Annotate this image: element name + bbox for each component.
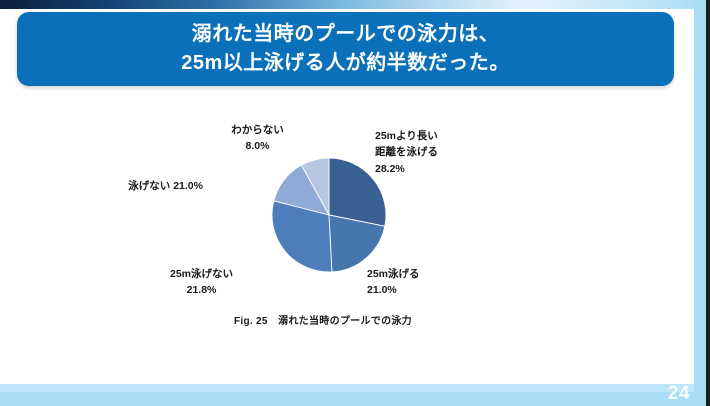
pie-label-line: 25m泳げない [139, 266, 264, 282]
pie-label-25m-can: 25m泳げる 21.0% [367, 266, 420, 299]
pie-label-line: わからない [195, 122, 320, 138]
right-accent-strip [694, 0, 706, 406]
pie-label-line: 25m泳げる [367, 266, 420, 282]
pie-label-value: 28.2% [375, 161, 438, 177]
pie-label-value: 8.0% [195, 138, 320, 154]
pie-label-line: 距離を泳げる [375, 144, 438, 160]
pie-svg [272, 158, 386, 272]
right-edge-border [706, 0, 710, 406]
pie-label-25m-longer: 25mより長い 距離を泳げる 28.2% [375, 128, 438, 177]
title-line-1: 溺れた当時のプールでの泳力は、 [192, 20, 500, 49]
pie-label-value: 21.8% [139, 282, 264, 298]
pie-label-25m-cannot: 25m泳げない 21.8% [139, 266, 264, 299]
title-line-2: 25m以上泳げる人が約半数だった。 [181, 49, 510, 78]
top-accent-strip [0, 0, 710, 9]
pie-label-line: 泳げない 21.0% [78, 178, 203, 194]
pie-graphic [272, 158, 386, 272]
pie-label-cannot-swim: 泳げない 21.0% [78, 178, 203, 194]
pie-chart: 25mより長い 距離を泳げる 28.2% 25m泳げる 21.0% 25m泳げな… [0, 96, 700, 356]
pie-label-value: 21.0% [367, 282, 420, 298]
figure-caption: Fig. 25 溺れた当時のプールでの泳力 [168, 312, 478, 327]
page-number: 24 [668, 383, 690, 405]
bottom-accent-strip-light [0, 384, 710, 392]
pie-label-unknown: わからない 8.0% [195, 122, 320, 155]
title-banner: 溺れた当時のプールでの泳力は、 25m以上泳げる人が約半数だった。 [17, 12, 674, 86]
slide-canvas: 溺れた当時のプールでの泳力は、 25m以上泳げる人が約半数だった。 25mより長… [0, 0, 710, 406]
pie-label-line: 25mより長い [375, 128, 438, 144]
